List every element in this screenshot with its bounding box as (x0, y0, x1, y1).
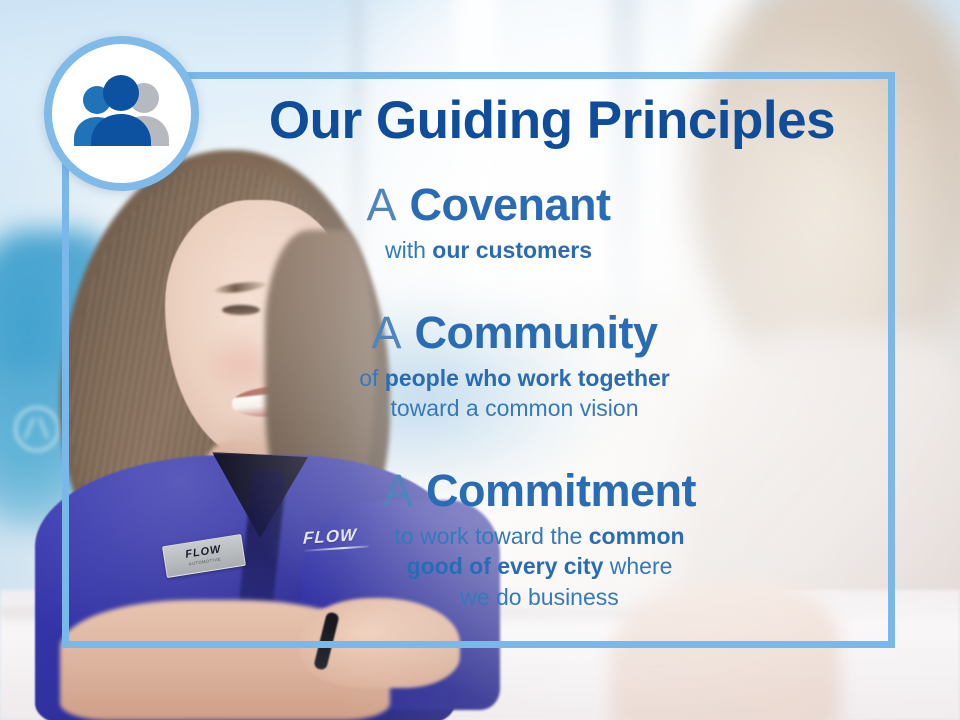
principle-subtext-emphasis: people who work together (385, 365, 670, 391)
principle-title: A Covenant (82, 182, 895, 229)
principle-article: A (366, 179, 397, 230)
principle-subtext-part: to work toward the (394, 523, 588, 549)
principle-keyword: Covenant (410, 179, 611, 230)
principle-covenant: A Covenant with our customers (62, 182, 895, 265)
principle-subtext-emphasis: common (589, 523, 685, 549)
principle-article: A (383, 465, 414, 516)
principle-commitment: A Commitment to work toward the common g… (62, 468, 895, 612)
principle-keyword: Commitment (426, 465, 696, 516)
principle-article: A (371, 307, 402, 358)
principle-subtext-part: we do business (460, 584, 619, 610)
text-content: Our Guiding Principles A Covenant with o… (62, 72, 895, 648)
guiding-principles-graphic: FLOW AUTOMOTIVE FLOW (0, 0, 960, 720)
principle-subtext-part: of (359, 365, 385, 391)
principle-title: A Commitment (184, 468, 895, 515)
principle-keyword: Community (415, 307, 658, 358)
principle-subtext: of people who work together toward a com… (134, 363, 895, 424)
page-title: Our Guiding Principles (212, 94, 892, 147)
principle-subtext-emphasis: good of every city (407, 553, 604, 579)
principle-subtext: with our customers (82, 235, 895, 265)
principle-subtext-emphasis: our customers (432, 237, 592, 263)
principle-title: A Community (134, 310, 895, 357)
principle-subtext: to work toward the common good of every … (184, 521, 895, 612)
car-emblem-icon (14, 406, 60, 452)
principle-community: A Community of people who work together … (62, 310, 895, 424)
principle-subtext-part: where (603, 553, 672, 579)
principle-subtext-part: with (385, 237, 432, 263)
principle-subtext-part: toward a common vision (391, 395, 639, 421)
